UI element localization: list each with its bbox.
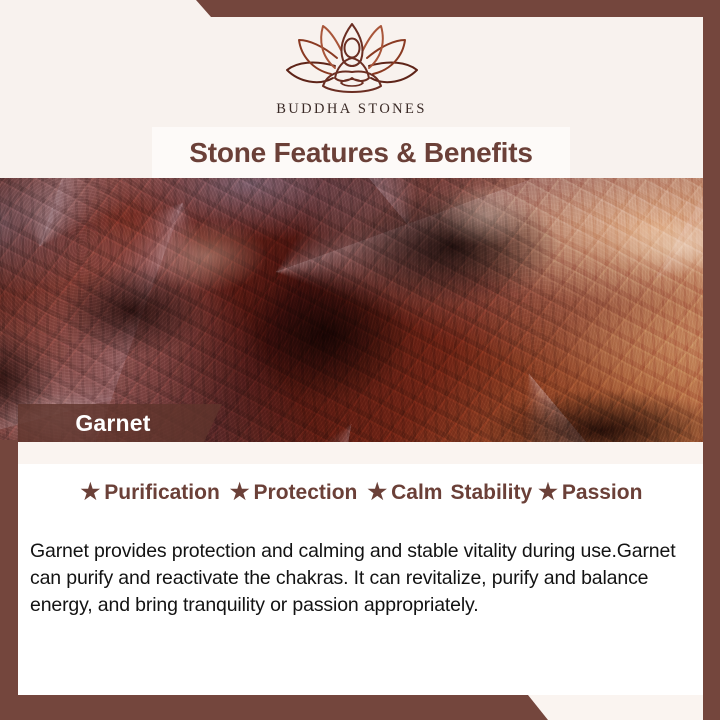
benefit-label: Protection — [254, 481, 358, 505]
stone-benefits-infographic: BUDDHA STONES Stone Features & Benefits … — [0, 0, 720, 720]
star-icon: ★ — [230, 481, 250, 503]
frame-bottom-bar — [0, 695, 720, 720]
page-title: Stone Features & Benefits — [152, 127, 570, 178]
star-icon: ★ — [538, 481, 558, 503]
stone-description: Garnet provides protection and calming a… — [30, 538, 690, 619]
benefit-item-purification: ★ Purification — [81, 481, 220, 505]
benefit-label: Purification — [104, 481, 220, 505]
brand-lockup: BUDDHA STONES — [0, 20, 703, 118]
benefit-item-passion: ★ Passion — [538, 481, 642, 505]
benefit-label: Passion — [562, 481, 643, 505]
frame-right-bar — [703, 0, 720, 720]
garnet-crystal-cluster-photo — [0, 178, 703, 442]
benefit-label: Calm — [391, 481, 442, 505]
benefit-item-protection: ★ Protection — [230, 481, 358, 505]
benefit-item-calm: ★ Calm — [367, 481, 442, 505]
stone-nametag: Garnet — [18, 404, 208, 442]
star-icon: ★ — [367, 481, 387, 503]
content-panel-top-tint — [18, 442, 703, 464]
star-icon: ★ — [81, 481, 101, 503]
lotus-meditation-icon — [277, 20, 427, 98]
benefits-list: ★ Purification ★ Protection ★ Calm ★ Sta… — [18, 474, 703, 512]
photo-layer-sheen — [0, 178, 703, 442]
frame-left-bar — [0, 440, 18, 720]
benefit-label: Stability — [450, 481, 532, 505]
brand-wordmark: BUDDHA STONES — [0, 101, 703, 118]
benefit-item-stability: ★ Stability — [450, 481, 532, 505]
